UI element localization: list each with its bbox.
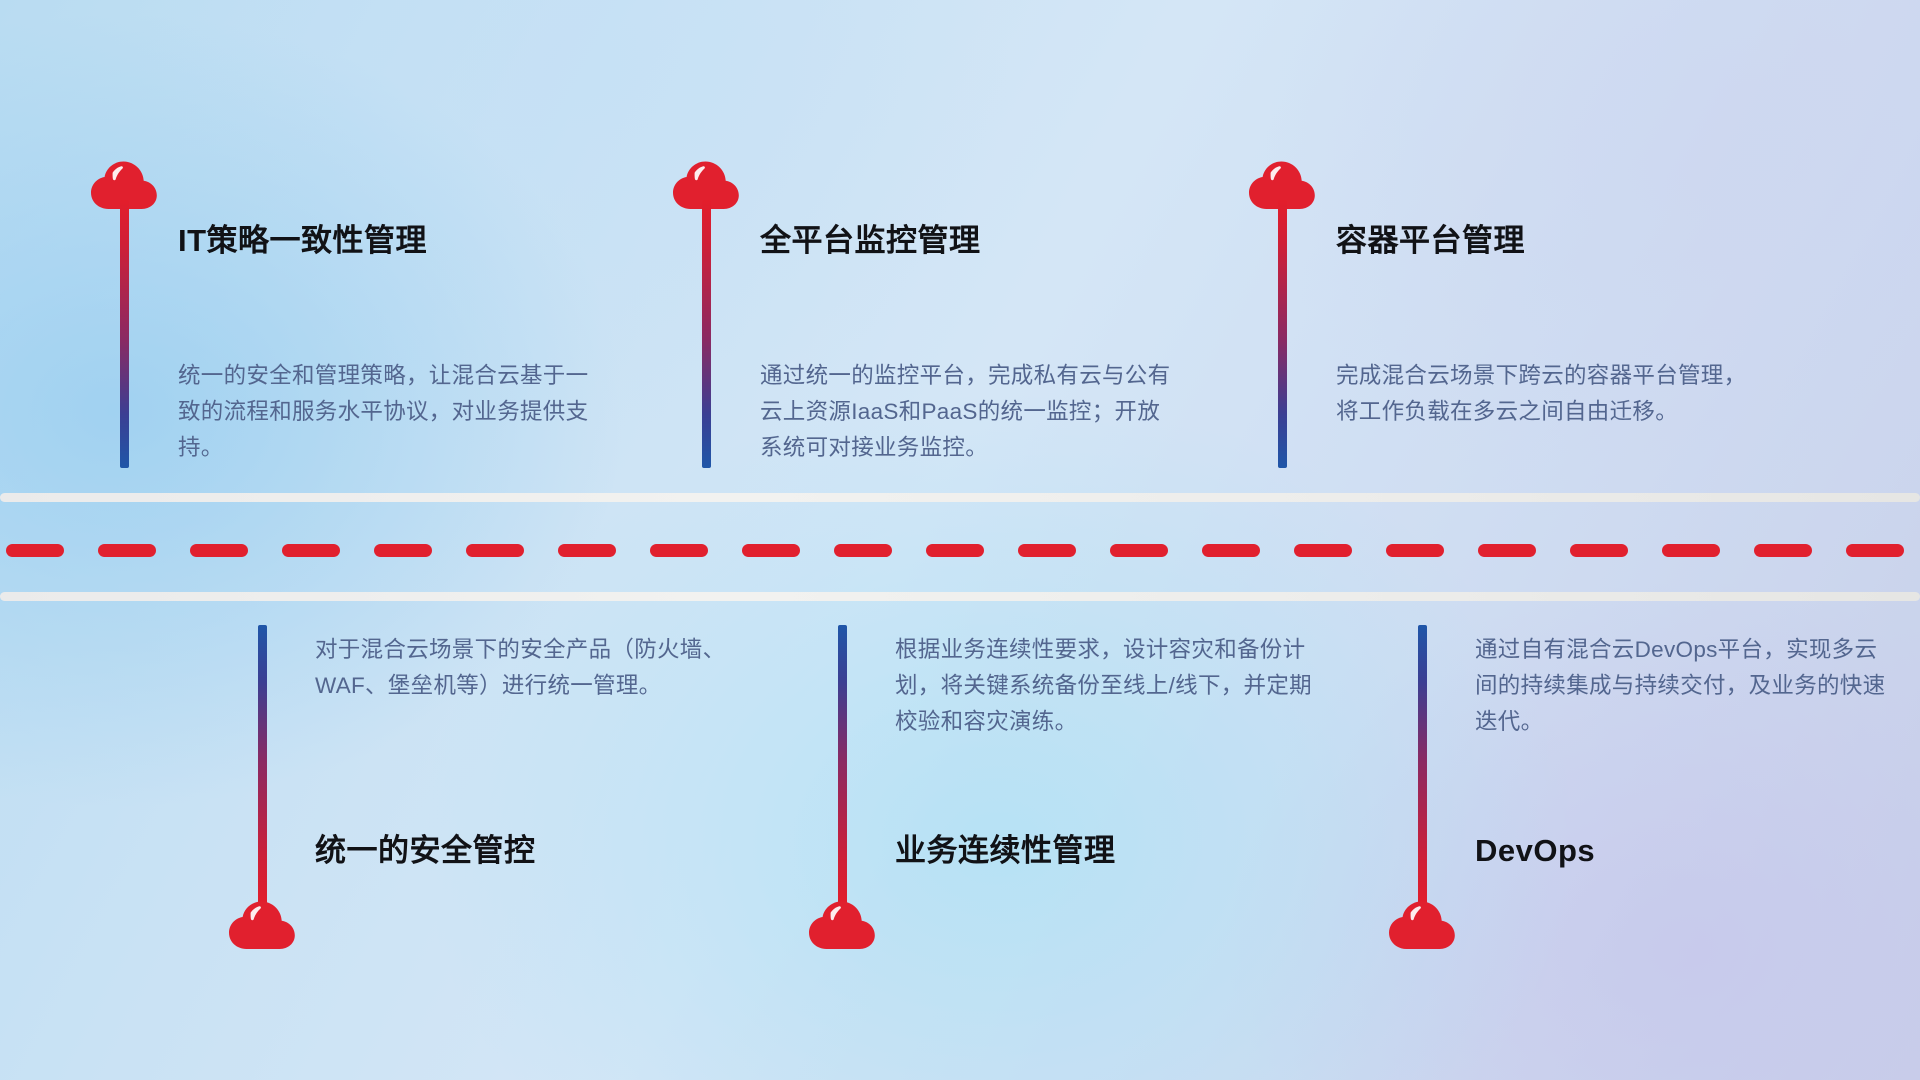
road-center-dashes	[0, 543, 1920, 557]
feature-title: 业务连续性管理	[895, 835, 1116, 866]
road-dash	[1478, 544, 1536, 557]
road-dash	[6, 544, 64, 557]
feature-description: 通过统一的监控平台，完成私有云与公有云上资源IaaS和PaaS的统一监控；开放系…	[760, 358, 1180, 466]
road-dash	[1570, 544, 1628, 557]
road-dash	[742, 544, 800, 557]
connector-stem	[702, 200, 711, 468]
connector-stem	[120, 200, 129, 468]
road-dash	[1846, 544, 1904, 557]
infographic-canvas: IT策略一致性管理 统一的安全和管理策略，让混合云基于一致的流程和服务水平协议，…	[0, 0, 1920, 1080]
road-dash	[650, 544, 708, 557]
feature-description: 完成混合云场景下跨云的容器平台管理，将工作负载在多云之间自由迁移。	[1336, 358, 1756, 430]
feature-description: 根据业务连续性要求，设计容灾和备份计划，将关键系统备份至线上/线下，并定期校验和…	[895, 632, 1315, 740]
road-dash	[1386, 544, 1444, 557]
road-line-upper	[0, 493, 1920, 502]
feature-description: 统一的安全和管理策略，让混合云基于一致的流程和服务水平协议，对业务提供支持。	[178, 358, 598, 466]
road-line-lower	[0, 592, 1920, 601]
road-dash	[466, 544, 524, 557]
feature-title: IT策略一致性管理	[178, 225, 427, 256]
feature-description: 对于混合云场景下的安全产品（防火墙、WAF、堡垒机等）进行统一管理。	[315, 632, 735, 704]
road-dash	[834, 544, 892, 557]
connector-stem	[838, 625, 847, 907]
road-dash	[1662, 544, 1720, 557]
road-dash	[558, 544, 616, 557]
road-dash	[926, 544, 984, 557]
connector-stem	[1278, 200, 1287, 468]
road-dash	[1754, 544, 1812, 557]
road-dash	[190, 544, 248, 557]
connector-stem	[1418, 625, 1427, 907]
road-dash	[282, 544, 340, 557]
road-dash	[1202, 544, 1260, 557]
cloud-pin-icon	[226, 895, 298, 955]
cloud-pin-icon	[1386, 895, 1458, 955]
road-dash	[374, 544, 432, 557]
feature-title: 全平台监控管理	[760, 225, 981, 256]
cloud-pin-icon	[806, 895, 878, 955]
feature-title: 统一的安全管控	[315, 835, 536, 866]
feature-description: 通过自有混合云DevOps平台，实现多云间的持续集成与持续交付，及业务的快速迭代…	[1475, 632, 1895, 740]
road-dash	[1018, 544, 1076, 557]
connector-stem	[258, 625, 267, 907]
feature-title: DevOps	[1475, 835, 1595, 866]
feature-title: 容器平台管理	[1336, 225, 1525, 256]
road-dash	[98, 544, 156, 557]
road-dash	[1294, 544, 1352, 557]
road-dash	[1110, 544, 1168, 557]
